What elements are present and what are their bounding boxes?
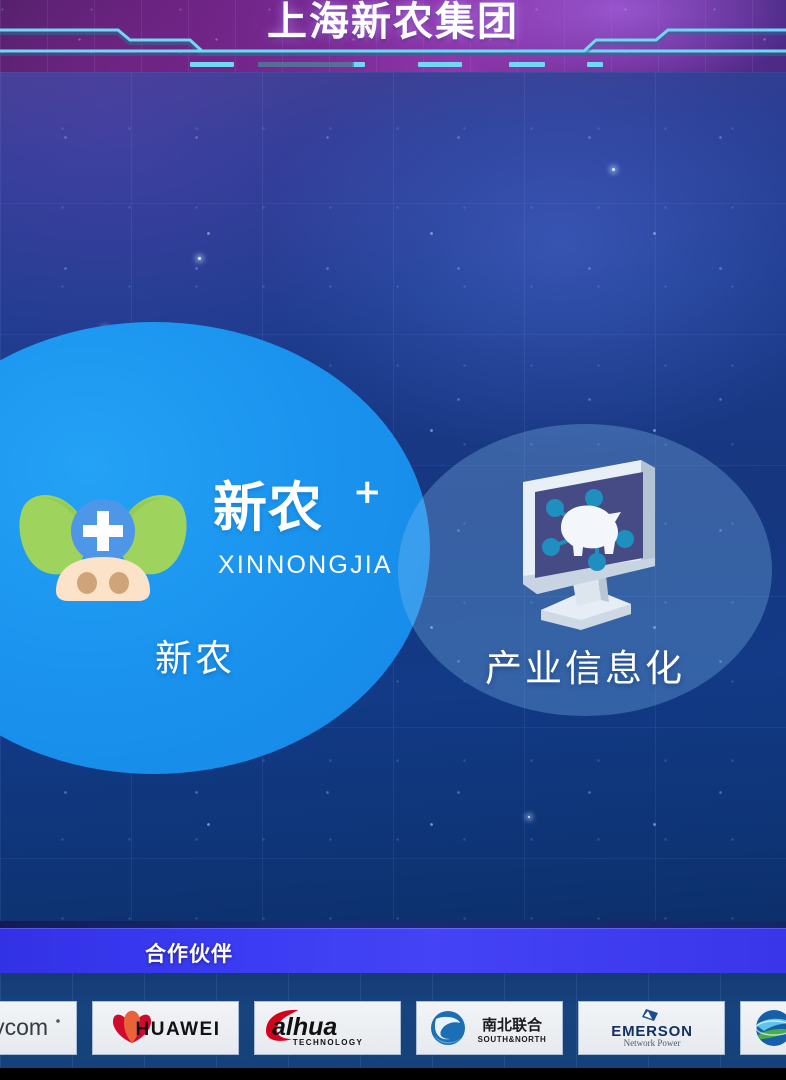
svg-text:alhua: alhua [272,1013,337,1041]
app-screen: 上海新农集团 [0,0,786,1080]
partner-logo-south-north[interactable]: 南北联合 SOUTH&NORTH [416,1001,563,1055]
module-label-xinnong: 新农 [0,628,390,682]
emerson-logo: EMERSON Network Power [582,1005,722,1051]
svg-text:南北联合: 南北联合 [481,1016,542,1034]
pig-leaf-plus-logo [12,467,194,607]
brand-plus-icon: + [353,475,382,509]
module-label-industry: 产业信息化 [398,638,772,692]
glow-point [198,257,201,260]
partner-logo-dahua[interactable]: alhua TECHNOLOGY [254,1001,401,1055]
main-stage: 新农 + XINNONGJIA 新农 [0,72,786,996]
svg-text:Network Power: Network Power [623,1038,680,1048]
south-north-logo: 南北联合 SOUTH&NORTH [420,1005,560,1051]
svg-text:SOUTH&NORTH: SOUTH&NORTH [477,1035,546,1044]
partner-band: 合作伙伴 [0,928,786,973]
glow-point [528,816,530,818]
glow-point [612,168,615,171]
brand-name-en: XINNONGJIA [218,551,393,580]
xinnong-brand-lockup: 新农 + XINNONGJIA [8,465,408,615]
partner-logo-emerson[interactable]: EMERSON Network Power [578,1001,725,1055]
polycom-logo: Polycom [0,1005,74,1051]
partner-logo-globe[interactable] [740,1001,786,1055]
brand-name-cn: 新农 [213,481,323,535]
svg-text:TECHNOLOGY: TECHNOLOGY [292,1038,362,1047]
partner-caption: 合作伙伴 [145,938,233,968]
partner-separator [0,921,786,928]
partner-logo-huawei[interactable]: HUAWEI [92,1001,239,1055]
dahua-logo: alhua TECHNOLOGY [258,1005,398,1051]
globe-logo [744,1005,786,1051]
page-header: 上海新农集团 [0,0,786,72]
monitor-pig-network-icon [505,454,673,632]
partner-logo-polycom[interactable]: Polycom [0,1001,77,1055]
partner-logo-strip: Polycom HUAWEI al [0,973,786,1068]
page-title: 上海新农集团 [0,0,786,47]
bottom-black-bar [0,1068,786,1080]
svg-text:HUAWEI: HUAWEI [135,1019,220,1040]
svg-text:Polycom: Polycom [0,1014,48,1040]
partner-logo-row: Polycom HUAWEI al [0,1001,786,1055]
huawei-logo: HUAWEI [96,1005,236,1051]
